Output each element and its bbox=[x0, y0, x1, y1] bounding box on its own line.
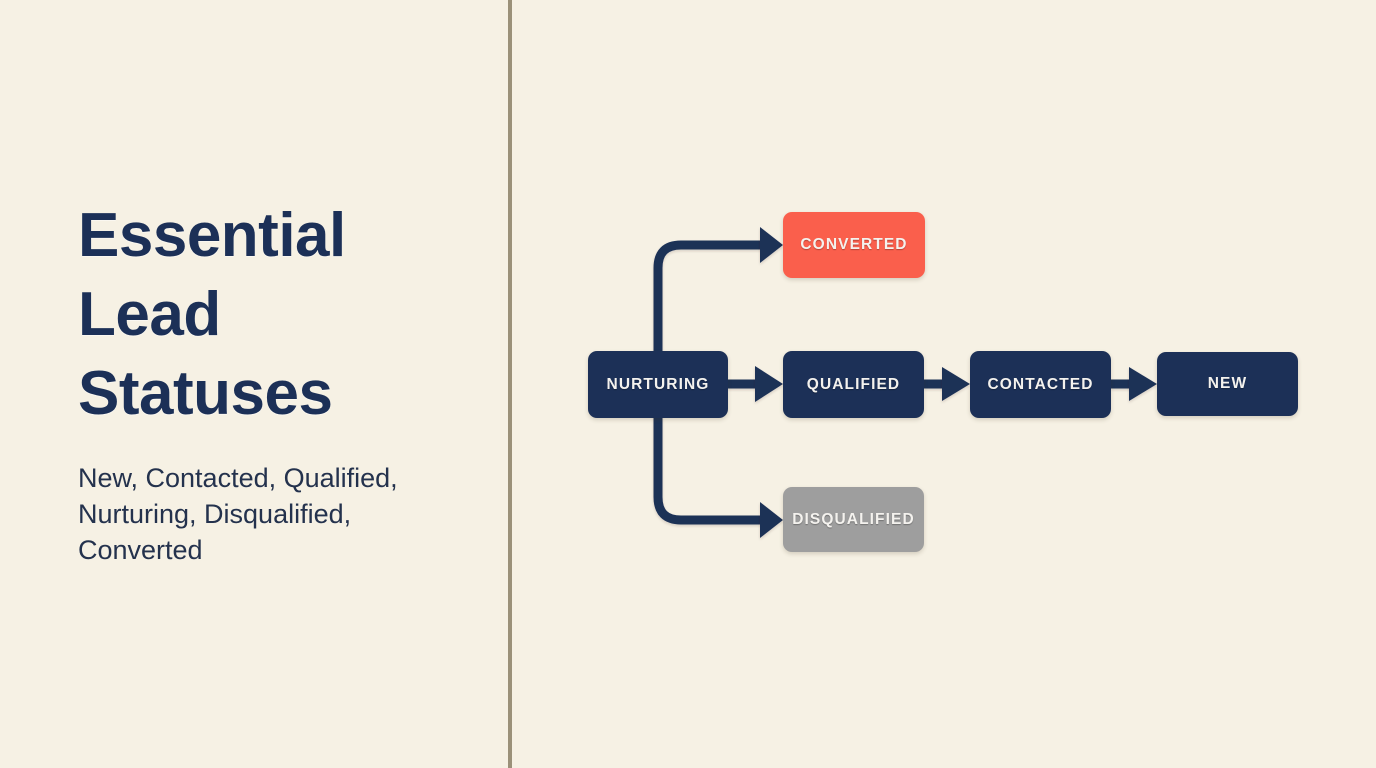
arrowhead-new bbox=[1129, 367, 1157, 401]
node-label-qualified: QUALIFIED bbox=[807, 376, 900, 394]
node-label-new: NEW bbox=[1208, 375, 1247, 393]
node-label-nurturing: NURTURING bbox=[607, 376, 710, 394]
arrowhead-converted bbox=[760, 227, 783, 263]
edge-nurturing-disqualified bbox=[658, 413, 765, 520]
node-disqualified: DISQUALIFIED bbox=[783, 487, 924, 552]
node-qualified: QUALIFIED bbox=[783, 351, 924, 418]
node-contacted: CONTACTED bbox=[970, 351, 1111, 418]
edge-nurturing-converted bbox=[658, 245, 765, 356]
node-label-contacted: CONTACTED bbox=[987, 376, 1093, 394]
node-new: NEW bbox=[1157, 352, 1298, 416]
slide-canvas: Essential Lead Statuses New, Contacted, … bbox=[0, 0, 1376, 768]
arrowhead-qualified bbox=[755, 366, 783, 402]
arrowhead-contacted bbox=[942, 367, 970, 401]
node-label-disqualified: DISQUALIFIED bbox=[792, 511, 915, 529]
node-label-converted: CONVERTED bbox=[800, 236, 907, 254]
arrowhead-disqualified bbox=[760, 502, 783, 538]
node-converted: CONVERTED bbox=[783, 212, 925, 278]
node-nurturing: NURTURING bbox=[588, 351, 728, 418]
